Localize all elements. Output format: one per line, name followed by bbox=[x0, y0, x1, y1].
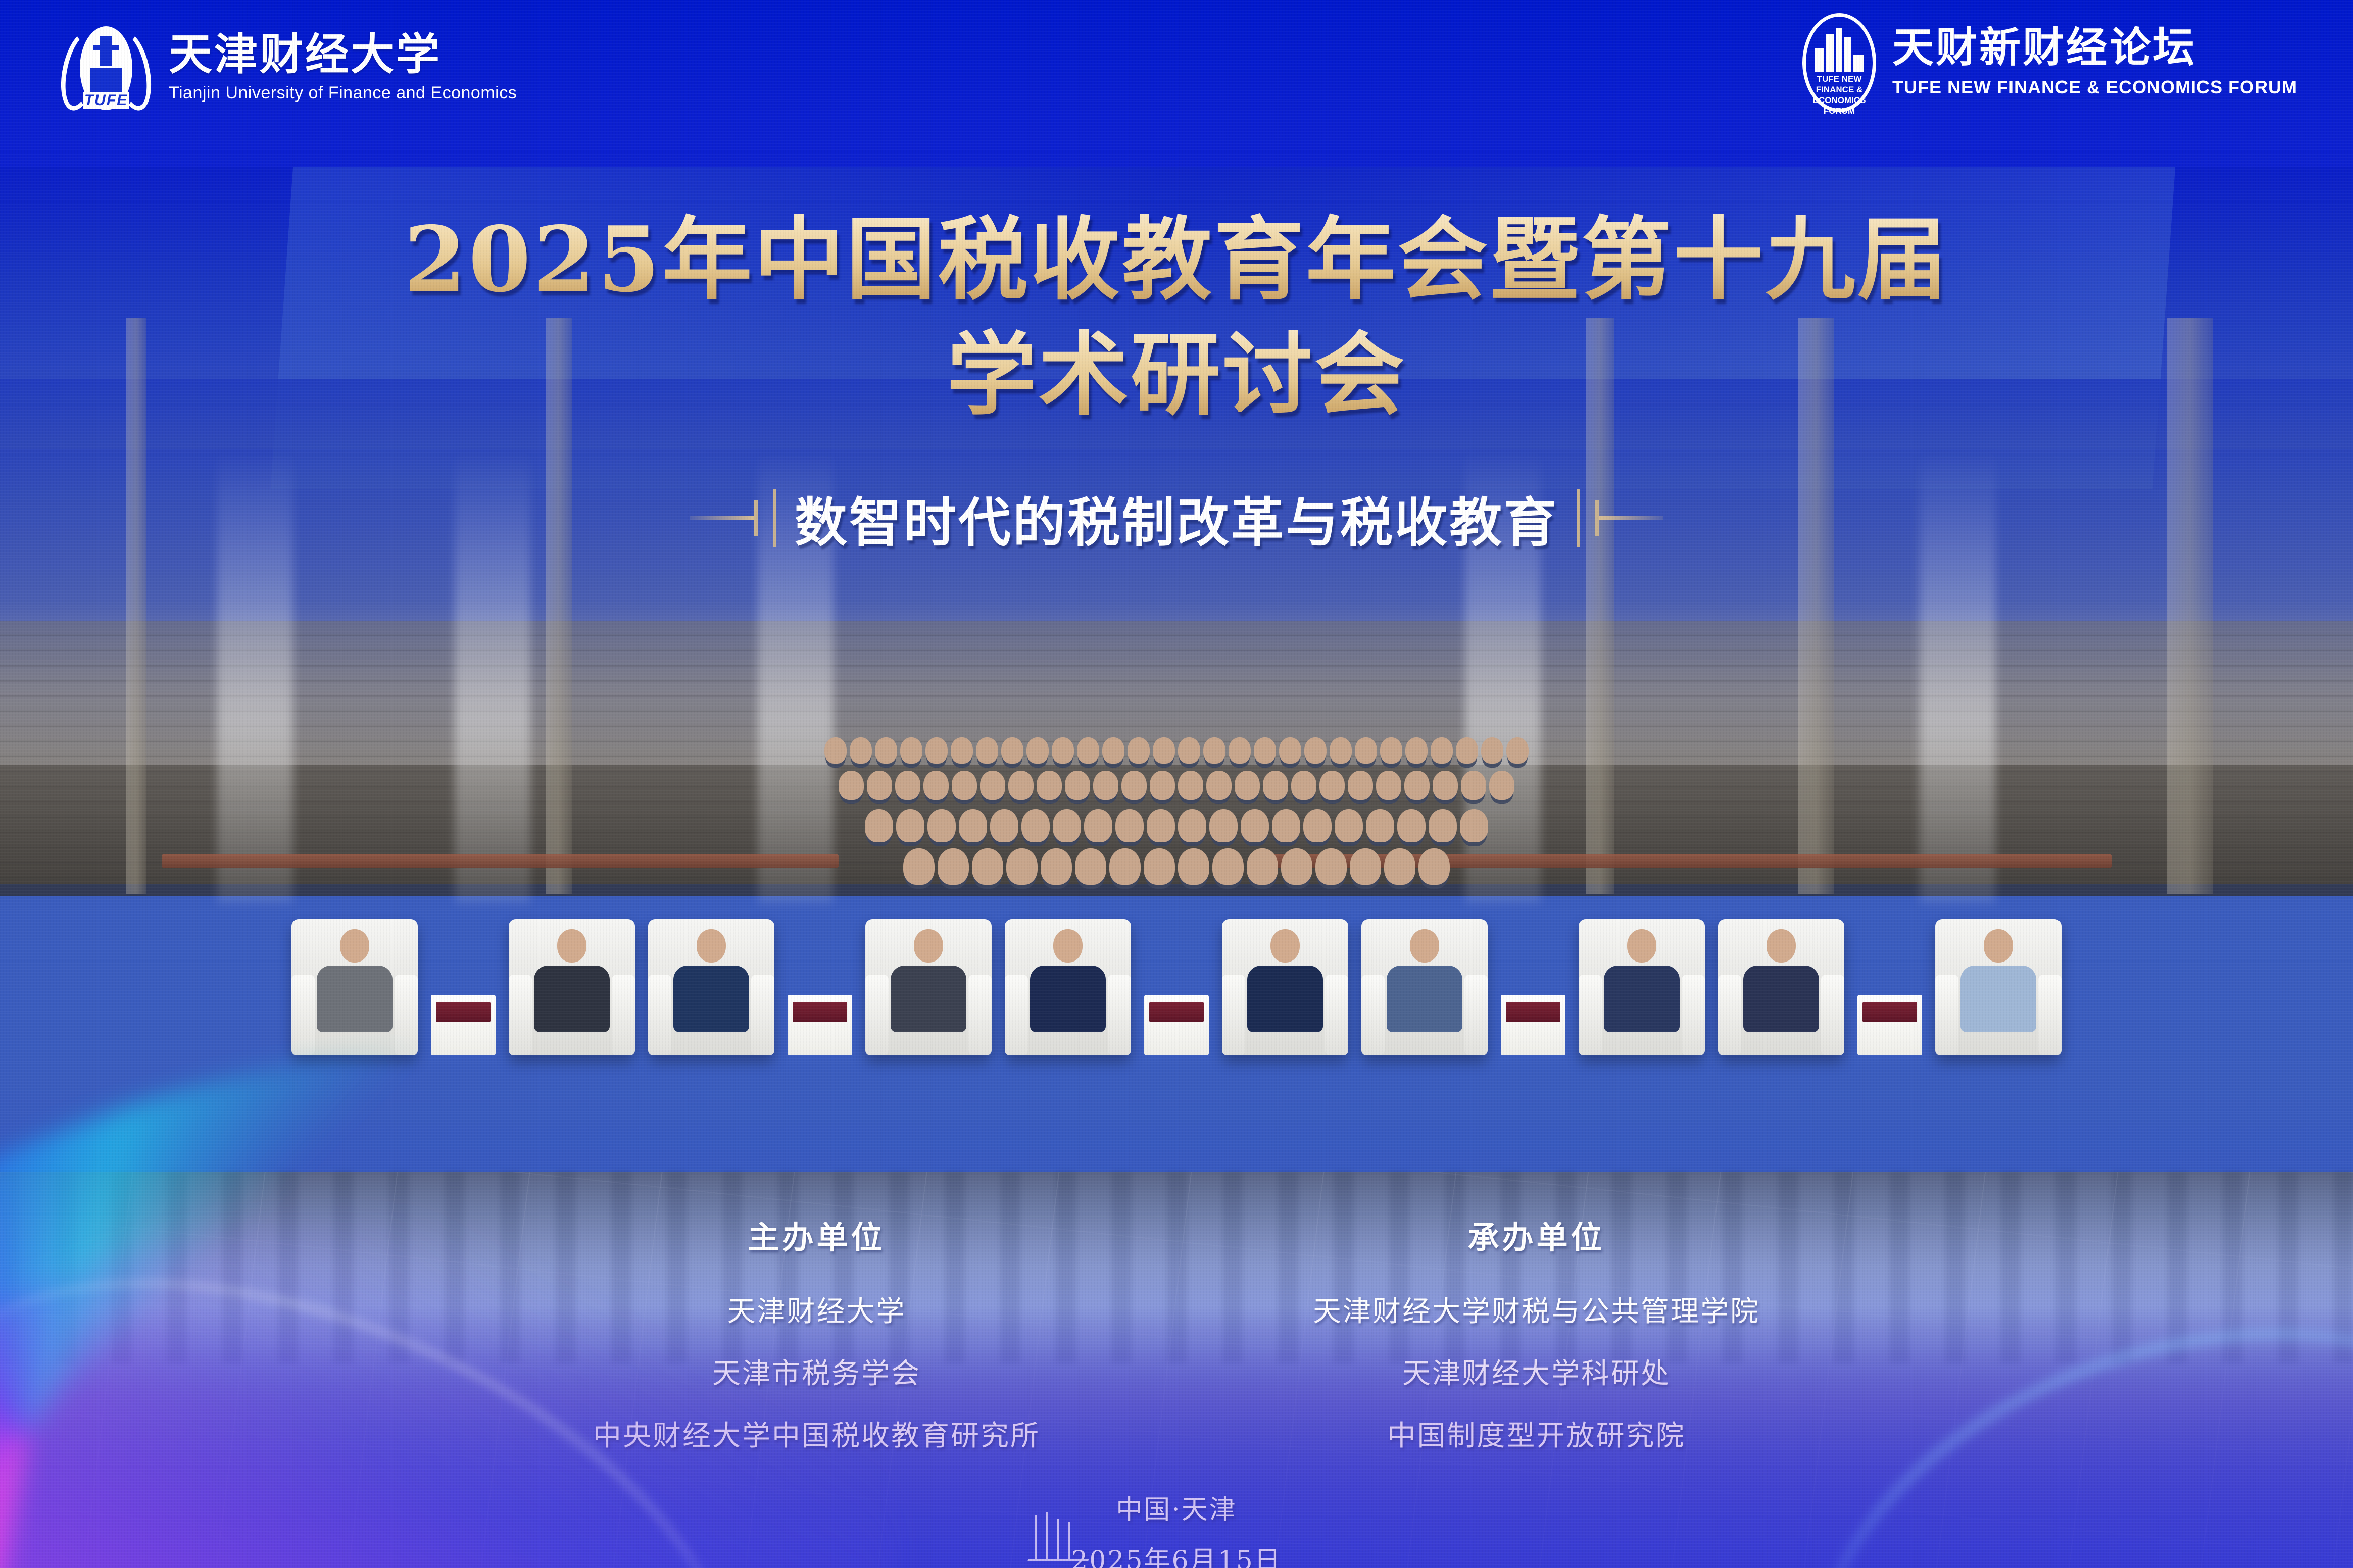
side-table bbox=[1501, 995, 1565, 1055]
host-item: 天津财经大学财税与公共管理学院 bbox=[1313, 1289, 1760, 1330]
poster-title: 2025年中国税收教育年会暨第十九届 学术研讨会 bbox=[0, 202, 2353, 432]
audience-row bbox=[0, 848, 2353, 885]
host-heading: 承办单位 bbox=[1313, 1212, 1760, 1257]
vip-armchair bbox=[291, 919, 418, 1055]
university-logo: TUFE 天津财经大学 Tianjin University of Financ… bbox=[61, 17, 517, 118]
vip-armchair bbox=[1005, 919, 1131, 1055]
event-location: 中国·天津 bbox=[0, 1488, 2353, 1526]
audience-row bbox=[0, 809, 2353, 842]
seated-person bbox=[1247, 929, 1323, 1032]
host-item: 中国制度型开放研究院 bbox=[1313, 1413, 1760, 1454]
crest-monogram: TUFE bbox=[83, 92, 129, 109]
name-placard bbox=[1506, 1002, 1560, 1022]
seated-person bbox=[534, 929, 610, 1032]
seated-person bbox=[1030, 929, 1106, 1032]
audience-row bbox=[0, 771, 2353, 800]
university-name-en: Tianjin University of Finance and Econom… bbox=[169, 83, 517, 103]
forum-name-en: TUFE NEW FINANCE & ECONOMICS FORUM bbox=[1892, 77, 2297, 98]
seated-person bbox=[891, 929, 966, 1032]
ornament-right bbox=[1577, 489, 1663, 547]
conference-poster: TUFE 天津财经大学 Tianjin University of Financ… bbox=[0, 0, 2353, 1568]
organizer-block: 主办单位 天津财经大学 天津市税务学会 中央财经大学中国税收教育研究所 bbox=[593, 1212, 1040, 1475]
forum-emblem-icon: TUFE NEW FINANCE & ECONOMICS FORUM bbox=[1802, 13, 1876, 112]
audience-area bbox=[0, 722, 2353, 1035]
vip-armchair bbox=[509, 919, 635, 1055]
event-date: 2025年6月15日 bbox=[0, 1539, 2353, 1568]
vip-armchair bbox=[1579, 919, 1705, 1055]
forum-logo: TUFE NEW FINANCE & ECONOMICS FORUM 天财新财经… bbox=[1802, 13, 2297, 112]
title-line-1: 2025年中国税收教育年会暨第十九届 bbox=[0, 202, 2353, 317]
side-table bbox=[1144, 995, 1209, 1055]
organizer-item: 天津市税务学会 bbox=[593, 1351, 1040, 1392]
vip-armchair bbox=[865, 919, 992, 1055]
forum-mark-text: TUFE NEW FINANCE & ECONOMICS FORUM bbox=[1802, 74, 1876, 116]
side-table bbox=[788, 995, 852, 1055]
seated-person bbox=[1387, 929, 1462, 1032]
vip-armchair bbox=[1935, 919, 2062, 1055]
vip-armchair bbox=[648, 919, 774, 1055]
ornament-left bbox=[690, 489, 776, 547]
name-placard bbox=[1862, 1002, 1917, 1022]
poster-subtitle: 数智时代的税制改革与税收教育 bbox=[795, 480, 1558, 556]
title-line-2: 学术研讨会 bbox=[0, 317, 2353, 432]
host-block: 承办单位 天津财经大学财税与公共管理学院 天津财经大学科研处 中国制度型开放研究… bbox=[1313, 1212, 1760, 1475]
vip-armchair bbox=[1361, 919, 1488, 1055]
vip-armchair bbox=[1222, 919, 1348, 1055]
host-item: 天津财经大学科研处 bbox=[1313, 1351, 1760, 1392]
tufe-crest-icon: TUFE bbox=[61, 17, 152, 118]
seated-person bbox=[673, 929, 749, 1032]
front-row-seating bbox=[0, 919, 2353, 1055]
seated-person bbox=[1743, 929, 1819, 1032]
seated-person bbox=[317, 929, 393, 1032]
university-name-cn: 天津财经大学 bbox=[169, 33, 517, 76]
seated-person bbox=[1960, 929, 2036, 1032]
vip-armchair bbox=[1718, 919, 1844, 1055]
name-placard bbox=[436, 1002, 491, 1022]
seated-person bbox=[1604, 929, 1680, 1032]
name-placard bbox=[1149, 1002, 1204, 1022]
line-ornament-icon bbox=[1028, 1515, 1129, 1568]
poster-footer: 主办单位 天津财经大学 天津市税务学会 中央财经大学中国税收教育研究所 承办单位… bbox=[0, 1212, 2353, 1568]
organizer-item: 中央财经大学中国税收教育研究所 bbox=[593, 1413, 1040, 1454]
organizer-item: 天津财经大学 bbox=[593, 1289, 1040, 1330]
audience-row bbox=[0, 737, 2353, 764]
side-table bbox=[1857, 995, 1922, 1055]
name-placard bbox=[793, 1002, 847, 1022]
forum-name-cn: 天财新财经论坛 bbox=[1892, 27, 2297, 69]
organizer-heading: 主办单位 bbox=[593, 1212, 1040, 1257]
side-table bbox=[431, 995, 496, 1055]
event-place-date: 中国·天津 2025年6月15日 bbox=[0, 1488, 2353, 1568]
poster-subtitle-row: 数智时代的税制改革与税收教育 bbox=[0, 480, 2353, 556]
